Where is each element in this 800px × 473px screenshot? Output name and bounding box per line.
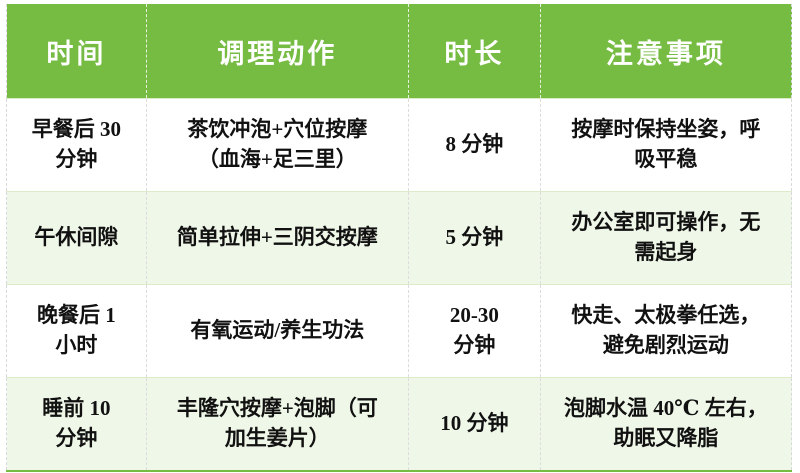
cell-time: 睡前 10分钟 (7, 378, 147, 471)
table-row: 早餐后 30分钟 茶饮冲泡+穴位按摩（血海+足三里） 8 分钟 按摩时保持坐姿，… (7, 99, 792, 192)
schedule-table-container: 时间 调理动作 时长 注意事项 早餐后 30分钟 茶饮冲泡+穴位按摩（血海+足三… (0, 0, 800, 473)
cell-action: 有氧运动/养生功法 (146, 285, 408, 378)
table-row: 晚餐后 1小时 有氧运动/养生功法 20-30分钟 快走、太极拳任选，避免剧烈运… (7, 285, 792, 378)
cell-notes: 按摩时保持坐姿，呼吸平稳 (540, 99, 791, 192)
cell-action: 简单拉伸+三阴交按摩 (146, 192, 408, 285)
column-header-duration: 时长 (408, 4, 540, 99)
table-header: 时间 调理动作 时长 注意事项 (7, 4, 792, 99)
cell-time: 晚餐后 1小时 (7, 285, 147, 378)
cell-notes: 办公室即可操作，无需起身 (540, 192, 791, 285)
cell-time: 午休间隙 (7, 192, 147, 285)
cell-duration: 20-30分钟 (408, 285, 540, 378)
cell-time: 早餐后 30分钟 (7, 99, 147, 192)
header-row: 时间 调理动作 时长 注意事项 (7, 4, 792, 99)
table-row: 睡前 10分钟 丰隆穴按摩+泡脚（可加生姜片） 10 分钟 泡脚水温 40℃ 左… (7, 378, 792, 471)
cell-duration: 8 分钟 (408, 99, 540, 192)
table-row: 午休间隙 简单拉伸+三阴交按摩 5 分钟 办公室即可操作，无需起身 (7, 192, 792, 285)
cell-notes: 快走、太极拳任选，避免剧烈运动 (540, 285, 791, 378)
cell-notes: 泡脚水温 40℃ 左右，助眠又降脂 (540, 378, 791, 471)
column-header-action: 调理动作 (146, 4, 408, 99)
conditioning-schedule-table: 时间 调理动作 时长 注意事项 早餐后 30分钟 茶饮冲泡+穴位按摩（血海+足三… (6, 4, 792, 472)
table-body: 早餐后 30分钟 茶饮冲泡+穴位按摩（血海+足三里） 8 分钟 按摩时保持坐姿，… (7, 99, 792, 471)
cell-duration: 10 分钟 (408, 378, 540, 471)
column-header-time: 时间 (7, 4, 147, 99)
cell-duration: 5 分钟 (408, 192, 540, 285)
cell-action: 丰隆穴按摩+泡脚（可加生姜片） (146, 378, 408, 471)
cell-action: 茶饮冲泡+穴位按摩（血海+足三里） (146, 99, 408, 192)
column-header-notes: 注意事项 (540, 4, 791, 99)
